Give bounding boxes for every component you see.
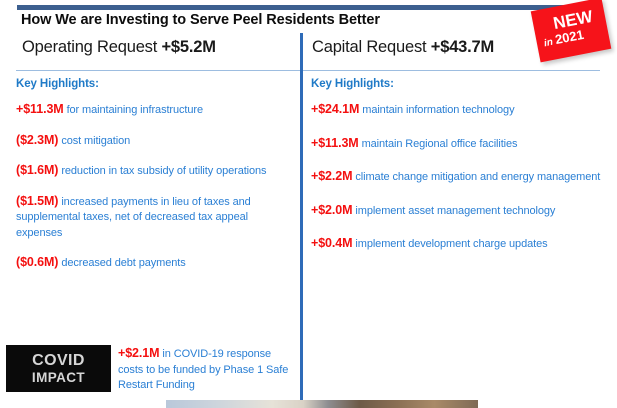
highlight-description: implement development charge updates (352, 238, 547, 250)
highlight-amount: +$0.4M (311, 236, 352, 250)
new-in-2021-badge: NEW in 2021 (531, 0, 612, 62)
highlight-item: +$2.2M climate change mitigation and ene… (311, 169, 603, 186)
header-divider-rule (16, 70, 600, 71)
operating-request-header: Operating Request +$5.2M (22, 38, 216, 57)
highlight-item: +$24.1M maintain information technology (311, 102, 603, 119)
highlight-item: ($0.6M) decreased debt payments (16, 255, 288, 272)
page-title: How We are Investing to Serve Peel Resid… (21, 12, 521, 28)
capital-request-amount: +$43.7M (431, 38, 494, 56)
highlight-item: +$11.3M maintain Regional office facilit… (311, 136, 603, 153)
highlight-description: cost mitigation (58, 135, 130, 147)
bottom-photo-strip (166, 400, 478, 408)
top-accent-bar (17, 5, 600, 10)
capital-request-header: Capital Request +$43.7M (312, 38, 494, 57)
highlight-item: +$11.3M for maintaining infrastructure (16, 102, 288, 119)
highlight-description: maintain Regional office facilities (359, 138, 518, 150)
operating-request-label: Operating Request (22, 38, 162, 56)
highlight-amount: ($2.3M) (16, 133, 58, 147)
new-badge-year: in 2021 (542, 27, 585, 49)
covid-impact-block: COVID IMPACT +$2.1M in COVID-19 response… (6, 345, 296, 405)
slide-canvas: How We are Investing to Serve Peel Resid… (0, 0, 617, 408)
covid-impact-badge: COVID IMPACT (6, 345, 111, 392)
operating-request-column: Key Highlights: +$11.3M for maintaining … (16, 78, 288, 286)
highlight-amount: ($1.5M) (16, 194, 58, 208)
highlight-amount: +$11.3M (16, 102, 64, 116)
highlight-amount: +$24.1M (311, 102, 359, 116)
highlight-item: +$2.0M implement asset management techno… (311, 203, 603, 220)
highlight-amount: +$2.0M (311, 203, 352, 217)
highlight-item: ($1.6M) reduction in tax subsidy of util… (16, 163, 288, 180)
covid-badge-line1: COVID (6, 345, 111, 369)
highlight-description: climate change mitigation and energy man… (352, 171, 600, 183)
highlight-amount: +$11.3M (311, 136, 359, 150)
column-divider (300, 33, 303, 405)
highlight-description: reduction in tax subsidy of utility oper… (58, 165, 266, 177)
highlight-item: +$0.4M implement development charge upda… (311, 236, 603, 253)
highlight-item: ($1.5M) increased payments in lieu of ta… (16, 194, 288, 242)
highlight-description: decreased debt payments (58, 257, 185, 269)
highlight-description: implement asset management technology (352, 205, 555, 217)
key-highlights-heading-left: Key Highlights: (16, 78, 288, 90)
key-highlights-heading-right: Key Highlights: (311, 78, 603, 90)
covid-amount: +$2.1M (118, 346, 159, 360)
operating-request-amount: +$5.2M (162, 38, 216, 56)
highlight-amount: ($1.6M) (16, 163, 58, 177)
covid-badge-line2: IMPACT (6, 369, 111, 385)
capital-request-label: Capital Request (312, 38, 431, 56)
highlight-description: maintain information technology (359, 104, 514, 116)
highlight-item: ($2.3M) cost mitigation (16, 133, 288, 150)
highlight-amount: ($0.6M) (16, 255, 58, 269)
capital-request-column: Key Highlights: +$24.1M maintain informa… (311, 78, 603, 270)
highlight-amount: +$2.2M (311, 169, 352, 183)
covid-impact-text: +$2.1M in COVID-19 response costs to be … (118, 346, 298, 394)
highlight-description: for maintaining infrastructure (64, 104, 203, 116)
